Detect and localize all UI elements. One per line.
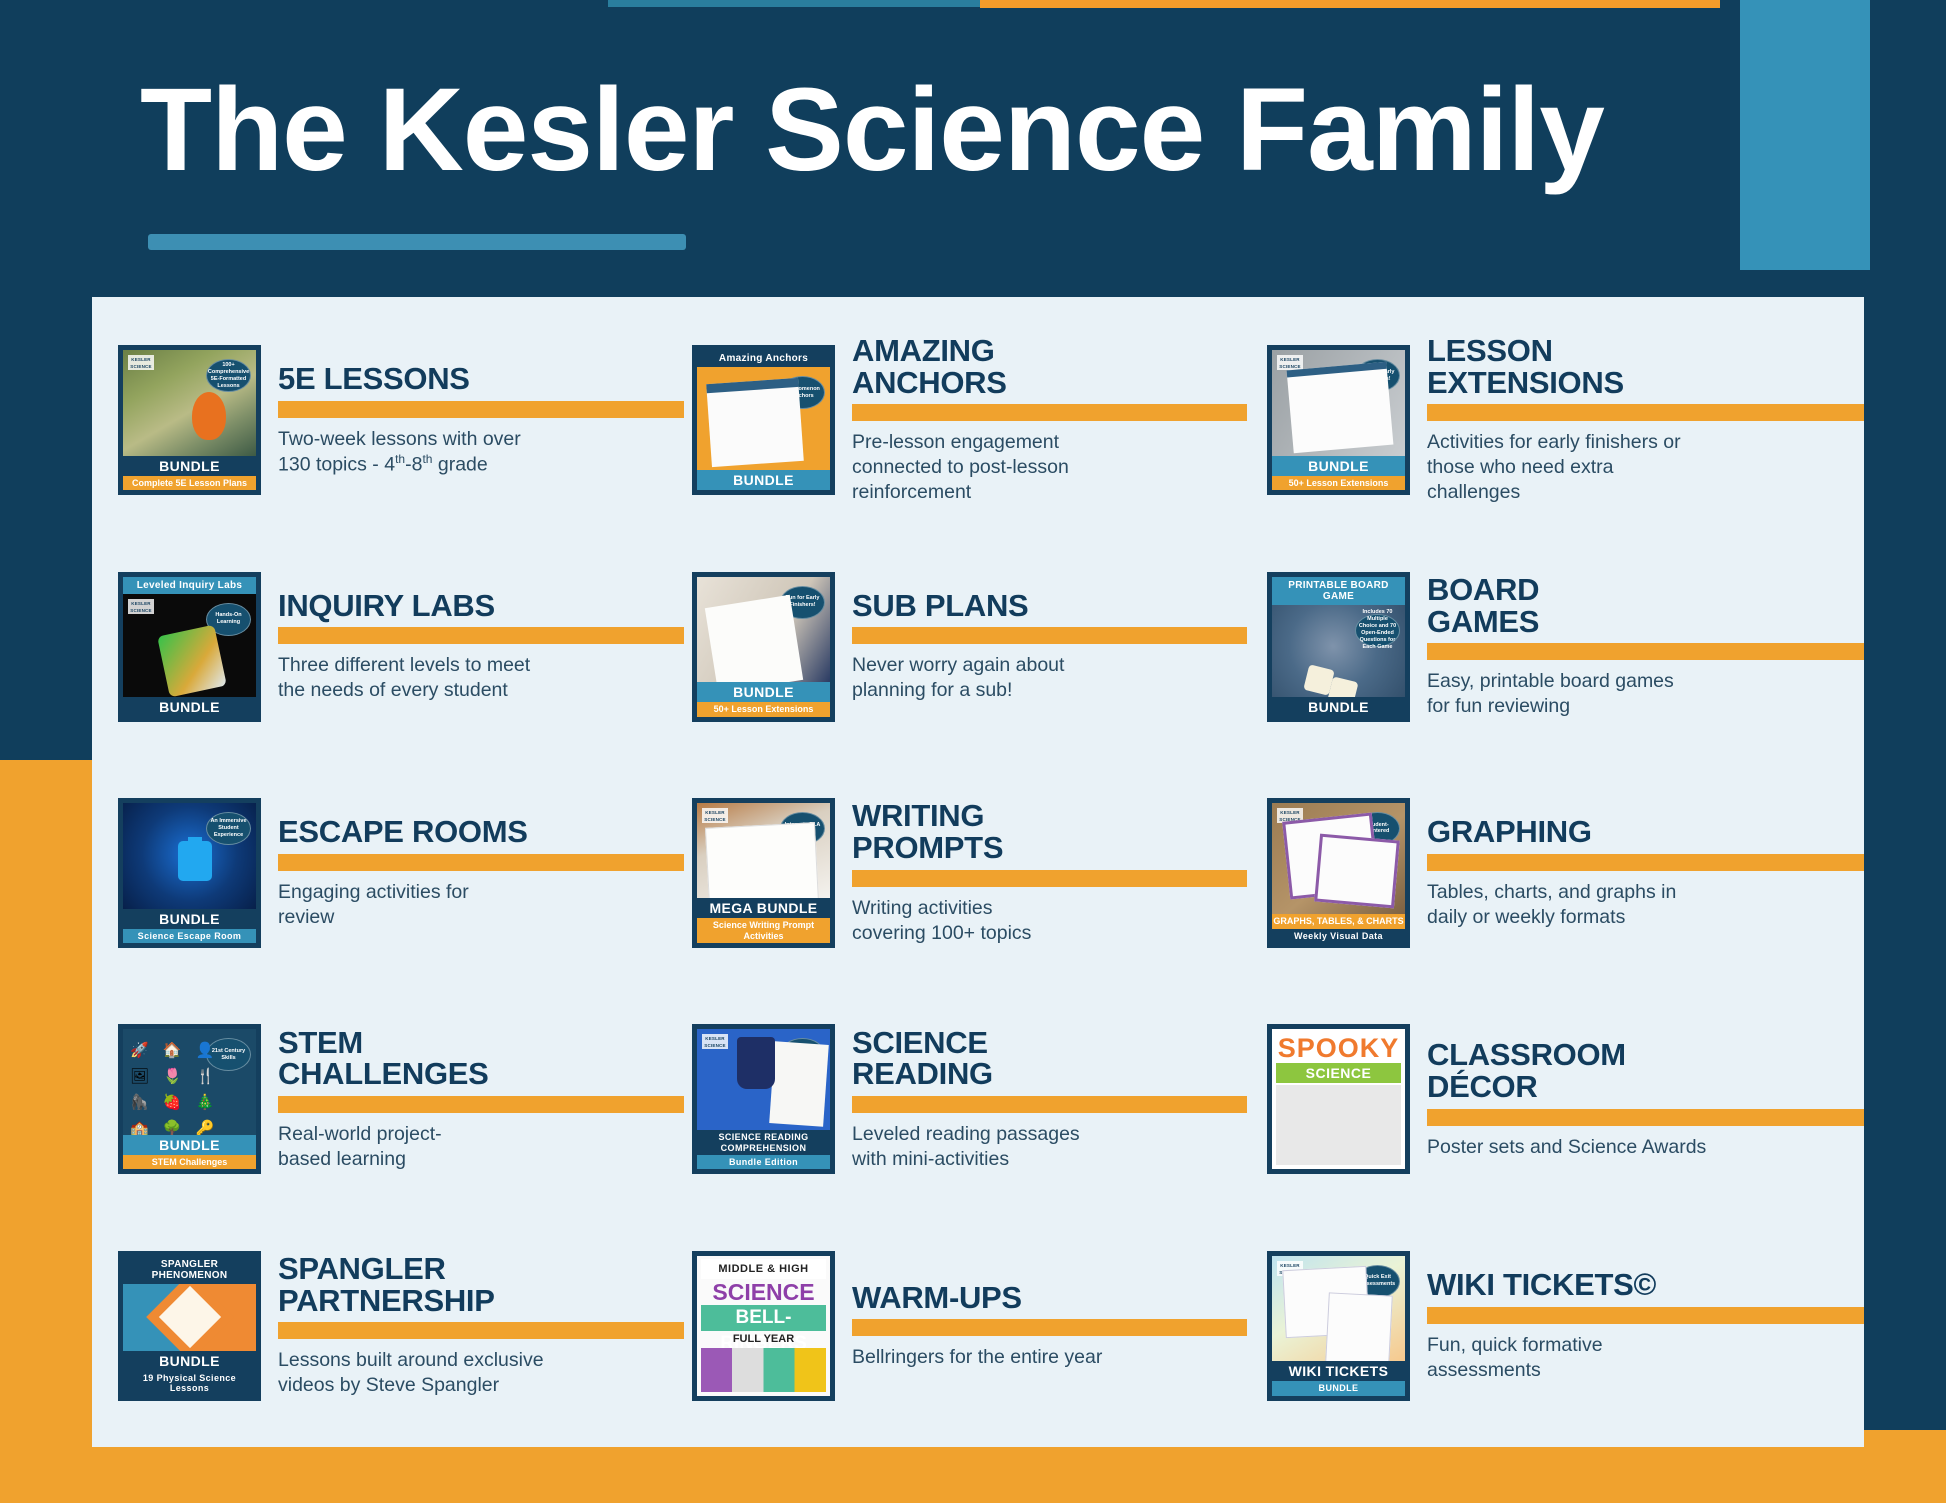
- bellringer-line-3: BELL-RINGERS: [701, 1305, 826, 1331]
- spooky-poster-grid: [1276, 1085, 1401, 1165]
- kesler-science-logo: KESLER SCIENCE: [128, 599, 154, 614]
- product-item[interactable]: KESLER SCIENCE100+ Comprehensive 5E-Form…: [92, 307, 684, 533]
- thumbnail-sub-label: Weekly Visual Data: [1272, 929, 1405, 943]
- thumbnail-sub-label: Science Escape Room: [123, 929, 256, 943]
- product-item[interactable]: SPANGLER PHENOMENONBUNDLE19 Physical Sci…: [92, 1213, 684, 1439]
- thumbnail-top-label: Amazing Anchors: [697, 350, 830, 367]
- product-heading: AMAZING ANCHORS: [852, 335, 1247, 398]
- product-heading: WRITING PROMPTS: [852, 800, 1247, 863]
- product-heading: 5E LESSONS: [278, 363, 684, 395]
- thumbnail-artwork: An Immersive Student Experience: [123, 803, 256, 909]
- product-description: Tables, charts, and graphs in daily or w…: [1427, 880, 1864, 930]
- product-item[interactable]: PRINTABLE BOARD GAMEIncludes 70 Multiple…: [1247, 533, 1864, 759]
- product-description: Lessons built around exclusive videos by…: [278, 1348, 684, 1398]
- product-underline-rule: [1427, 1307, 1864, 1324]
- product-thumbnail[interactable]: KESLER SCIENCE100+ Comprehensive 5E-Form…: [118, 345, 261, 495]
- product-underline-rule: [852, 1319, 1247, 1336]
- thumbnail-artwork: Fun for Early Finishers!: [697, 577, 830, 683]
- kesler-science-logo: KESLER SCIENCE: [1277, 355, 1303, 370]
- ordinal-suffix: th: [422, 452, 432, 466]
- product-heading: ESCAPE ROOMS: [278, 816, 684, 848]
- product-text: WIKI TICKETS©Fun, quick formative assess…: [1410, 1269, 1864, 1383]
- product-description: Bellringers for the entire year: [852, 1345, 1247, 1370]
- page-title: The Kesler Science Family: [140, 62, 1604, 198]
- product-heading: SCIENCE READING: [852, 1027, 1247, 1090]
- product-text: SPANGLER PARTNERSHIPLessons built around…: [261, 1253, 684, 1398]
- product-thumbnail[interactable]: KESLER SCIENCEStudent-CenteredGRAPHS, TA…: [1267, 798, 1410, 948]
- thumbnail-artwork: Phenomenon Anchors: [697, 367, 830, 470]
- product-text: SUB PLANSNever worry again about plannin…: [835, 590, 1247, 704]
- kesler-science-logo: KESLER SCIENCE: [702, 808, 728, 823]
- product-thumbnail[interactable]: Leveled Inquiry LabsKESLER SCIENCEHands-…: [118, 572, 261, 722]
- product-heading: GRAPHING: [1427, 816, 1864, 848]
- thumbnail-bundle-label: BUNDLE: [1272, 697, 1405, 717]
- product-item[interactable]: SPOOKYSCIENCE POSTERSCLASSROOM DÉCORPost…: [1247, 986, 1864, 1212]
- thumbnail-bundle-label: BUNDLE: [123, 456, 256, 476]
- product-item[interactable]: KESLER SCIENCEStudent-CenteredGRAPHS, TA…: [1247, 760, 1864, 986]
- product-text: 5E LESSONSTwo-week lessons with over 130…: [261, 363, 684, 477]
- product-text: WRITING PROMPTSWriting activities coveri…: [835, 800, 1247, 945]
- product-thumbnail[interactable]: Fun for Early Finishers!BUNDLE50+ Lesson…: [692, 572, 835, 722]
- product-underline-rule: [852, 1096, 1247, 1113]
- product-description: Never worry again about planning for a s…: [852, 653, 1247, 703]
- product-description: Writing activities covering 100+ topics: [852, 896, 1247, 946]
- thumbnail-badge: Integrate ELA Skills!: [780, 812, 825, 845]
- product-item[interactable]: Amazing AnchorsPhenomenon AnchorsBUNDLEA…: [684, 307, 1247, 533]
- thumbnail-bundle-label: BUNDLE: [123, 697, 256, 717]
- products-grid: KESLER SCIENCE100+ Comprehensive 5E-Form…: [92, 297, 1864, 1447]
- thumbnail-badge: Student-Centered: [1355, 812, 1400, 845]
- thumbnail-badge: 40 Leveled Articles and Projects: [780, 1038, 825, 1071]
- spooky-subtitle: SCIENCE POSTERS: [1276, 1063, 1401, 1083]
- product-item[interactable]: KESLER SCIENCEIntegrate ELA Skills!MEGA …: [684, 760, 1247, 986]
- product-underline-rule: [1427, 1109, 1864, 1126]
- poster-root: The Kesler Science Family KESLER SCIENCE…: [0, 0, 1946, 1503]
- product-underline-rule: [852, 627, 1247, 644]
- product-thumbnail[interactable]: KESLER SCIENCE40 Leveled Articles and Pr…: [692, 1024, 835, 1174]
- kesler-science-logo: KESLER SCIENCE: [702, 1034, 728, 1049]
- thumbnail-sub-label: BUNDLE: [1272, 1381, 1405, 1395]
- product-heading: LESSON EXTENSIONS: [1427, 335, 1864, 398]
- product-description: Easy, printable board games for fun revi…: [1427, 669, 1864, 719]
- bellringer-line-4: FULL YEAR RESOURCE: [701, 1331, 826, 1347]
- bellringer-line-2: SCIENCE: [701, 1279, 826, 1305]
- thumbnail-artwork: KESLER SCIENCEHands-On Learning: [123, 594, 256, 697]
- thumbnail-artwork: KESLER SCIENCEQuick Exit Assessments: [1272, 1256, 1405, 1362]
- product-description: Activities for early finishers or those …: [1427, 430, 1864, 505]
- product-underline-rule: [278, 854, 684, 871]
- thumbnail-artwork: MIDDLE & HIGHSCIENCEBELL-RINGERSFULL YEA…: [697, 1256, 830, 1396]
- kesler-science-logo: KESLER SCIENCE: [128, 355, 154, 370]
- product-text: INQUIRY LABSThree different levels to me…: [261, 590, 684, 704]
- product-item[interactable]: Leveled Inquiry LabsKESLER SCIENCEHands-…: [92, 533, 684, 759]
- bellringer-thumbnails: [701, 1348, 826, 1392]
- thumbnail-artwork: Includes 70 Multiple Choice and 70 Open-…: [1272, 605, 1405, 697]
- kesler-science-logo: KESLER SCIENCE: [1277, 808, 1303, 823]
- thumbnail-artwork: SPOOKYSCIENCE POSTERS: [1272, 1029, 1405, 1169]
- product-item[interactable]: KESLER SCIENCEFun for Early Finishers!BU…: [1247, 307, 1864, 533]
- thumbnail-artwork: 21st Century Skills: [123, 1029, 256, 1135]
- thumbnail-sub-label: Complete 5E Lesson Plans: [123, 476, 256, 490]
- product-text: BOARD GAMESEasy, printable board games f…: [1410, 574, 1864, 719]
- product-thumbnail[interactable]: MIDDLE & HIGHSCIENCEBELL-RINGERSFULL YEA…: [692, 1251, 835, 1401]
- product-description: Poster sets and Science Awards: [1427, 1135, 1864, 1160]
- product-thumbnail[interactable]: Amazing AnchorsPhenomenon AnchorsBUNDLE: [692, 345, 835, 495]
- product-underline-rule: [278, 401, 684, 418]
- product-underline-rule: [278, 627, 684, 644]
- product-item[interactable]: KESLER SCIENCE40 Leveled Articles and Pr…: [684, 986, 1247, 1212]
- ordinal-suffix: th: [395, 452, 405, 466]
- product-text: CLASSROOM DÉCORPoster sets and Science A…: [1410, 1039, 1864, 1159]
- thumbnail-badge: Hands-On Learning: [206, 603, 251, 636]
- thumbnail-sub-label: Bundle Edition: [697, 1155, 830, 1169]
- thumbnail-bundle-label: BUNDLE: [1272, 456, 1405, 476]
- product-underline-rule: [852, 870, 1247, 887]
- product-item[interactable]: An Immersive Student ExperienceBUNDLESci…: [92, 760, 684, 986]
- thumbnail-sub-label: 50+ Lesson Extensions: [697, 702, 830, 716]
- thumbnail-bundle-label: BUNDLE: [697, 682, 830, 702]
- product-text: ESCAPE ROOMSEngaging activities for revi…: [261, 816, 684, 930]
- product-heading: BOARD GAMES: [1427, 574, 1864, 637]
- thumbnail-top-label: Leveled Inquiry Labs: [123, 577, 256, 594]
- product-item[interactable]: 21st Century SkillsBUNDLESTEM Challenges…: [92, 986, 684, 1212]
- product-item[interactable]: KESLER SCIENCEQuick Exit AssessmentsWIKI…: [1247, 1213, 1864, 1439]
- product-heading: INQUIRY LABS: [278, 590, 684, 622]
- product-thumbnail[interactable]: 21st Century SkillsBUNDLESTEM Challenges: [118, 1024, 261, 1174]
- product-thumbnail[interactable]: KESLER SCIENCEFun for Early Finishers!BU…: [1267, 345, 1410, 495]
- thumbnail-bundle-label: BUNDLE: [123, 1351, 256, 1371]
- thumbnail-artwork: KESLER SCIENCEFun for Early Finishers!: [1272, 350, 1405, 456]
- product-text: STEM CHALLENGESReal-world project- based…: [261, 1027, 684, 1172]
- product-text: SCIENCE READINGLeveled reading passages …: [835, 1027, 1247, 1172]
- product-heading: SPANGLER PARTNERSHIP: [278, 1253, 684, 1316]
- product-text: WARM-UPSBellringers for the entire year: [835, 1282, 1247, 1371]
- products-panel: KESLER SCIENCE100+ Comprehensive 5E-Form…: [92, 297, 1864, 1447]
- product-underline-rule: [1427, 404, 1864, 421]
- thumbnail-artwork: [123, 1284, 256, 1351]
- thumbnail-artwork: KESLER SCIENCEStudent-Centered: [1272, 803, 1405, 914]
- thumbnail-badge: 100+ Comprehensive 5E-Formatted Lessons: [206, 359, 251, 392]
- thumbnail-badge: 21st Century Skills: [206, 1038, 251, 1071]
- thumbnail-top-label: PRINTABLE BOARD GAME: [1272, 577, 1405, 605]
- product-description: Fun, quick formative assessments: [1427, 1333, 1864, 1383]
- thumbnail-artwork: KESLER SCIENCE100+ Comprehensive 5E-Form…: [123, 350, 256, 456]
- product-underline-rule: [1427, 643, 1864, 660]
- thumbnail-badge: Quick Exit Assessments: [1355, 1265, 1400, 1298]
- product-description: Engaging activities for review: [278, 880, 684, 930]
- product-thumbnail[interactable]: PRINTABLE BOARD GAMEIncludes 70 Multiple…: [1267, 572, 1410, 722]
- thumbnail-bundle-label: MEGA BUNDLE: [697, 898, 830, 918]
- thumbnail-bundle-label: BUNDLE: [123, 1135, 256, 1155]
- title-underline-rule: [148, 234, 686, 250]
- product-item[interactable]: MIDDLE & HIGHSCIENCEBELL-RINGERSFULL YEA…: [684, 1213, 1247, 1439]
- thumbnail-badge: Phenomenon Anchors: [780, 376, 825, 409]
- product-description: Leveled reading passages with mini-activ…: [852, 1122, 1247, 1172]
- product-thumbnail[interactable]: SPANGLER PHENOMENONBUNDLE19 Physical Sci…: [118, 1251, 261, 1401]
- thumbnail-sub-label: 19 Physical Science Lessons: [123, 1371, 256, 1396]
- thumbnail-badge: Fun for Early Finishers!: [780, 586, 825, 619]
- product-heading: STEM CHALLENGES: [278, 1027, 684, 1090]
- product-thumbnail[interactable]: KESLER SCIENCEIntegrate ELA Skills!MEGA …: [692, 798, 835, 948]
- product-thumbnail[interactable]: KESLER SCIENCEQuick Exit AssessmentsWIKI…: [1267, 1251, 1410, 1401]
- thumbnail-badge: An Immersive Student Experience: [206, 812, 251, 845]
- product-thumbnail[interactable]: An Immersive Student ExperienceBUNDLESci…: [118, 798, 261, 948]
- product-underline-rule: [278, 1322, 684, 1339]
- thumbnail-sub-label: 50+ Lesson Extensions: [1272, 476, 1405, 490]
- product-text: LESSON EXTENSIONSActivities for early fi…: [1410, 335, 1864, 505]
- product-description: Three different levels to meet the needs…: [278, 653, 684, 703]
- product-description: Real-world project- based learning: [278, 1122, 684, 1172]
- product-description: Two-week lessons with over 130 topics - …: [278, 427, 684, 477]
- product-text: GRAPHINGTables, charts, and graphs in da…: [1410, 816, 1864, 930]
- spooky-title: SPOOKY: [1276, 1033, 1401, 1063]
- kesler-science-logo: KESLER SCIENCE: [1277, 1261, 1303, 1276]
- thumbnail-badge: Includes 70 Multiple Choice and 70 Open-…: [1355, 614, 1400, 647]
- thumbnail-bundle-label: SCIENCE READING COMPREHENSION: [697, 1130, 830, 1155]
- thumbnail-bundle-label: WIKI TICKETS: [1272, 1361, 1405, 1381]
- thumbnail-sub-label: STEM Challenges: [123, 1155, 256, 1169]
- thumbnail-top-label: SPANGLER PHENOMENON: [123, 1256, 256, 1284]
- product-item[interactable]: Fun for Early Finishers!BUNDLE50+ Lesson…: [684, 533, 1247, 759]
- product-heading: CLASSROOM DÉCOR: [1427, 1039, 1864, 1102]
- product-heading: WIKI TICKETS©: [1427, 1269, 1864, 1301]
- thumbnail-badge: Fun for Early Finishers!: [1355, 359, 1400, 392]
- thumbnail-artwork: KESLER SCIENCEIntegrate ELA Skills!: [697, 803, 830, 898]
- header: The Kesler Science Family: [0, 0, 1813, 300]
- product-underline-rule: [852, 404, 1247, 421]
- thumbnail-sub-label: Science Writing Prompt Activities: [697, 918, 830, 943]
- product-underline-rule: [278, 1096, 684, 1113]
- bellringer-line-1: MIDDLE & HIGH: [701, 1259, 826, 1279]
- thumbnail-bundle-label: GRAPHS, TABLES, & CHARTS: [1272, 914, 1405, 928]
- product-thumbnail[interactable]: SPOOKYSCIENCE POSTERS: [1267, 1024, 1410, 1174]
- product-description: Pre-lesson engagement connected to post-…: [852, 430, 1247, 505]
- product-heading: SUB PLANS: [852, 590, 1247, 622]
- thumbnail-artwork: KESLER SCIENCE40 Leveled Articles and Pr…: [697, 1029, 830, 1130]
- thumbnail-bundle-label: BUNDLE: [123, 909, 256, 929]
- thumbnail-bundle-label: BUNDLE: [697, 470, 830, 490]
- product-heading: WARM-UPS: [852, 1282, 1247, 1314]
- product-text: AMAZING ANCHORSPre-lesson engagement con…: [835, 335, 1247, 505]
- product-underline-rule: [1427, 854, 1864, 871]
